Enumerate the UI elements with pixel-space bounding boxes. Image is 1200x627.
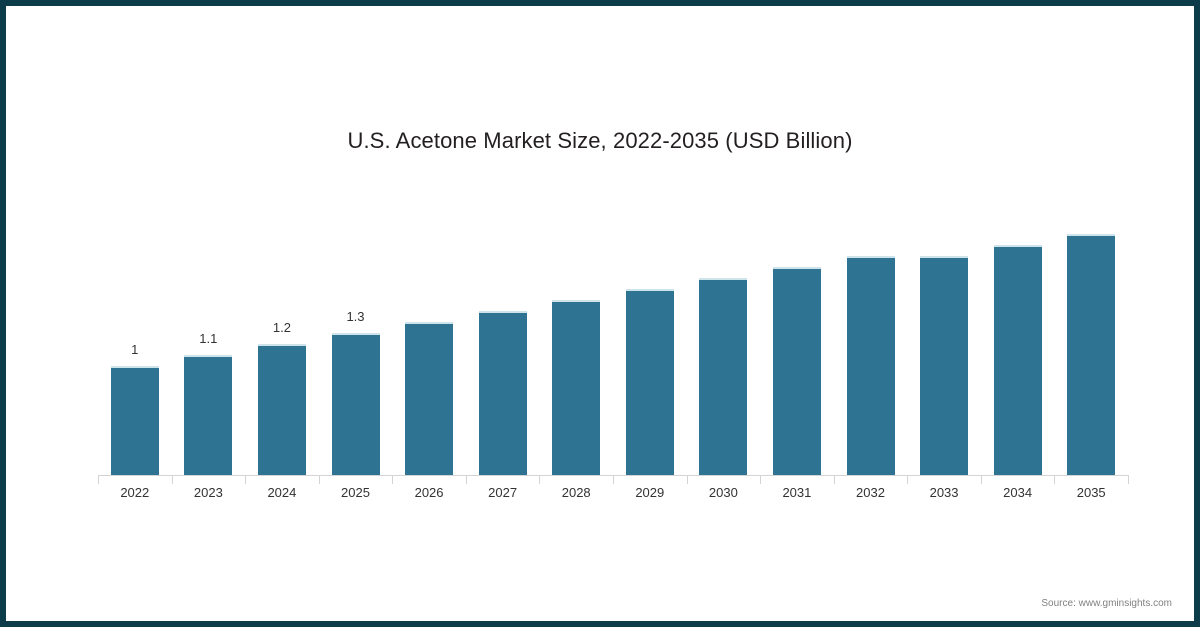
x-axis-tick [687,475,688,484]
bar-2029[interactable] [626,289,674,475]
bar-2023[interactable] [184,355,232,475]
bar-2028[interactable] [552,300,600,475]
bar-2024[interactable] [258,344,306,475]
chart-frame: U.S. Acetone Market Size, 2022-2035 (USD… [0,0,1200,627]
x-axis-label-2030: 2030 [688,485,758,500]
bar-2025[interactable] [332,333,380,475]
x-axis-label-2026: 2026 [394,485,464,500]
x-axis-tick [760,475,761,484]
bar-rect [847,256,895,475]
x-axis-label-2033: 2033 [909,485,979,500]
x-axis-tick [1128,475,1129,484]
x-axis-label-2022: 2022 [100,485,170,500]
chart-title: U.S. Acetone Market Size, 2022-2035 (USD… [6,128,1194,154]
bar-rect [1067,234,1115,475]
x-axis-label-2029: 2029 [615,485,685,500]
x-axis-tick [907,475,908,484]
x-axis-tick [98,475,99,484]
x-axis-label-2024: 2024 [247,485,317,500]
bar-2033[interactable] [920,256,968,475]
x-axis-tick [834,475,835,484]
bar-2030[interactable] [699,278,747,475]
bar-rect [111,366,159,475]
x-axis-tick [172,475,173,484]
bar-rect [773,267,821,475]
x-axis-tick [1054,475,1055,484]
x-axis-tick [613,475,614,484]
bar-2032[interactable] [847,256,895,475]
bar-2026[interactable] [405,322,453,475]
x-axis-label-2034: 2034 [983,485,1053,500]
x-axis-tick [981,475,982,484]
x-axis-tick [539,475,540,484]
x-axis-label-2032: 2032 [836,485,906,500]
bar-rect [405,322,453,475]
plot-area [98,206,1128,471]
bar-rect [332,333,380,475]
bar-2034[interactable] [994,245,1042,475]
bar-value-label-2024: 1.2 [247,320,317,335]
x-axis-tick [319,475,320,484]
bar-2027[interactable] [479,311,527,475]
bar-value-label-2023: 1.1 [173,331,243,346]
bar-rect [479,311,527,475]
x-axis-tick [466,475,467,484]
bar-rect [626,289,674,475]
x-axis-label-2027: 2027 [468,485,538,500]
bar-rect [258,344,306,475]
x-axis-tick [245,475,246,484]
bar-rect [699,278,747,475]
bar-2035[interactable] [1067,234,1115,475]
bar-2022[interactable] [111,366,159,475]
x-axis-label-2028: 2028 [541,485,611,500]
x-axis-label-2035: 2035 [1056,485,1126,500]
bar-2031[interactable] [773,267,821,475]
bar-rect [184,355,232,475]
bar-rect [994,245,1042,475]
chart-canvas: U.S. Acetone Market Size, 2022-2035 (USD… [6,6,1194,621]
bar-rect [552,300,600,475]
bar-value-label-2022: 1 [100,342,170,357]
x-axis-label-2023: 2023 [173,485,243,500]
bar-value-label-2025: 1.3 [321,309,391,324]
source-note: Source: www.gminsights.com [1041,598,1172,609]
bar-rect [920,256,968,475]
x-axis-tick [392,475,393,484]
x-axis-label-2025: 2025 [321,485,391,500]
x-axis-label-2031: 2031 [762,485,832,500]
